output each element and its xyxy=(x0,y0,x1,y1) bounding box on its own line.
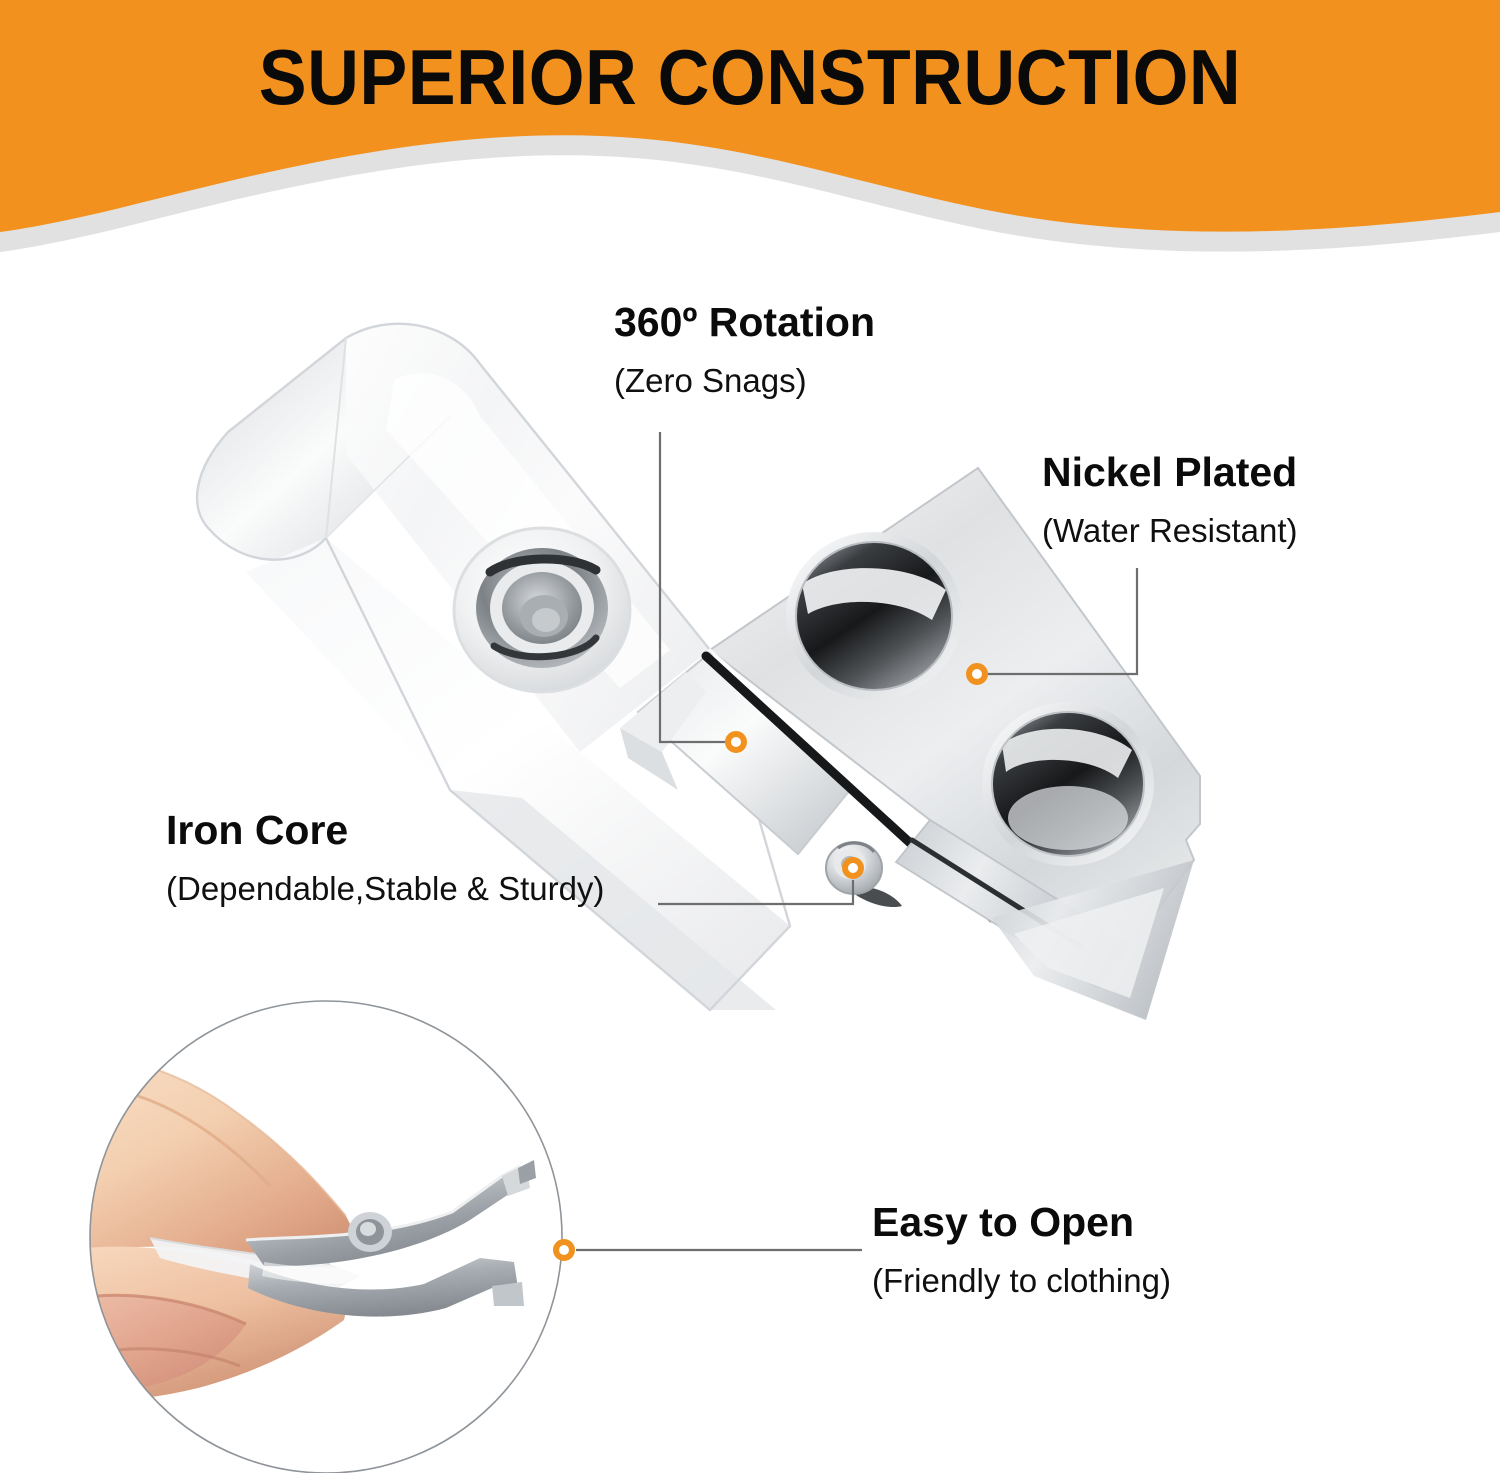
callout-easyopen: Easy to Open (Friendly to clothing) xyxy=(872,1200,1171,1300)
callout-easyopen-title: Easy to Open xyxy=(872,1200,1171,1246)
marker-dot-nickel[interactable] xyxy=(966,663,988,685)
inset-rivet xyxy=(348,1212,392,1252)
infographic-page: SUPERIOR CONSTRUCTION xyxy=(0,0,1500,1473)
clip-hole-lower xyxy=(982,702,1154,866)
inset-product-image xyxy=(78,1000,578,1473)
callout-rotation-subtitle: (Zero Snags) xyxy=(614,362,875,400)
callout-nickel-title: Nickel Plated xyxy=(1042,450,1298,496)
callout-nickel-subtitle: (Water Resistant) xyxy=(1042,512,1298,550)
callout-ironcore-title: Iron Core xyxy=(166,808,604,854)
snap-button xyxy=(454,528,630,692)
clip-hole-upper xyxy=(786,532,962,700)
main-product-image xyxy=(150,320,1250,1040)
callout-ironcore-subtitle: (Dependable,Stable & Sturdy) xyxy=(166,870,604,908)
marker-dot-ironcore[interactable] xyxy=(842,857,864,879)
callout-ironcore: Iron Core (Dependable,Stable & Sturdy) xyxy=(166,808,604,908)
marker-dot-easyopen[interactable] xyxy=(553,1239,575,1261)
callout-rotation-title: 360º Rotation xyxy=(614,300,875,346)
callout-easyopen-subtitle: (Friendly to clothing) xyxy=(872,1262,1171,1300)
callout-nickel: Nickel Plated (Water Resistant) xyxy=(1042,450,1298,550)
page-title: SUPERIOR CONSTRUCTION xyxy=(60,38,1440,116)
header-banner: SUPERIOR CONSTRUCTION xyxy=(0,0,1500,270)
marker-dot-rotation[interactable] xyxy=(725,731,747,753)
callout-rotation: 360º Rotation (Zero Snags) xyxy=(614,300,875,400)
